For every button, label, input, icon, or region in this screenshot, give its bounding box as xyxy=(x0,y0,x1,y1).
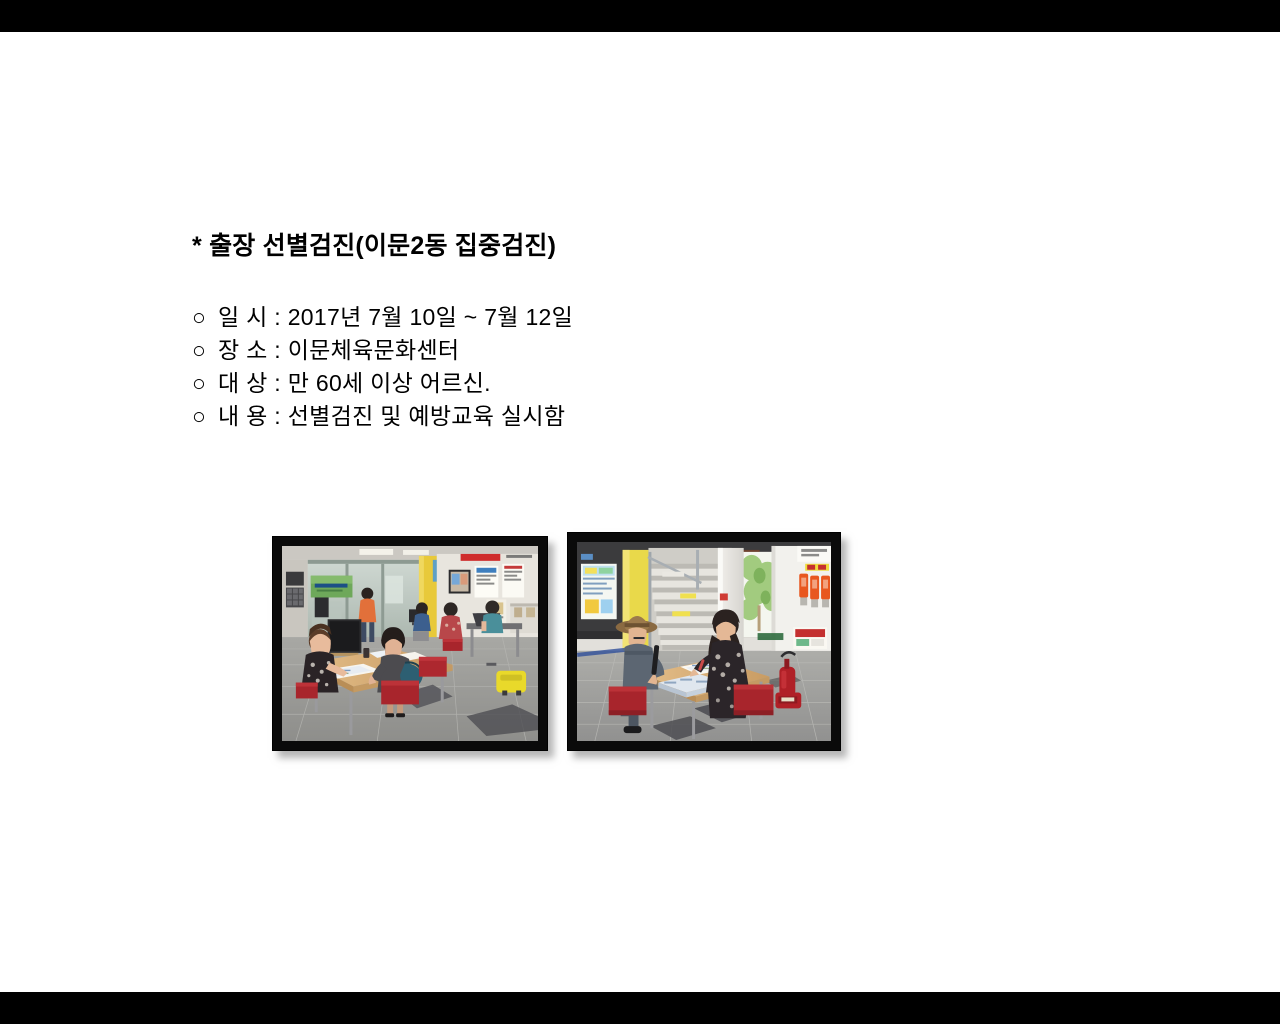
detail-value-place: 이문체육문화센터 xyxy=(288,337,460,363)
slide-text-block: * 출장 선별검진(이문2동 집중검진) ○일 시 : 2017년 7월 10일… xyxy=(192,231,972,433)
circle-bullet-icon: ○ xyxy=(192,334,218,367)
letterbox-top xyxy=(0,0,1280,32)
detail-label-place: 장 소 : xyxy=(218,334,281,367)
detail-value-target: 만 60세 이상 어르신. xyxy=(288,370,491,396)
slide-viewport: * 출장 선별검진(이문2동 집중검진) ○일 시 : 2017년 7월 10일… xyxy=(0,0,1280,1024)
photo-screening-interview-image: 계단 앞 책상에서 어르신 한 분과 상담 검진을 진행하는 모습 xyxy=(577,542,831,741)
photo-screening-lobby: 이문체육문화센터 로비에서 어르신 선별검진을 진행하는 모습 xyxy=(272,536,548,751)
detail-label-content: 내 용 : xyxy=(218,400,281,433)
circle-bullet-icon: ○ xyxy=(192,301,218,334)
detail-line-date: ○일 시 : 2017년 7월 10일 ~ 7월 12일 xyxy=(192,301,972,334)
detail-label-date: 일 시 : xyxy=(218,301,281,334)
detail-line-content: ○내 용 : 선별검진 및 예방교육 실시함 xyxy=(192,400,972,433)
detail-label-target: 대 상 : xyxy=(218,367,281,400)
slide-canvas: * 출장 선별검진(이문2동 집중검진) ○일 시 : 2017년 7월 10일… xyxy=(0,32,1280,992)
photo-screening-lobby-image: 이문체육문화센터 로비에서 어르신 선별검진을 진행하는 모습 xyxy=(282,546,538,741)
letterbox-bottom xyxy=(0,992,1280,1024)
detail-value-date: 2017년 7월 10일 ~ 7월 12일 xyxy=(288,304,573,330)
detail-line-place: ○장 소 : 이문체육문화센터 xyxy=(192,334,972,367)
detail-line-target: ○대 상 : 만 60세 이상 어르신. xyxy=(192,367,972,400)
photo-screening-interview: 계단 앞 책상에서 어르신 한 분과 상담 검진을 진행하는 모습 xyxy=(567,532,841,751)
detail-value-content: 선별검진 및 예방교육 실시함 xyxy=(288,403,566,429)
page-title: * 출장 선별검진(이문2동 집중검진) xyxy=(192,231,972,261)
circle-bullet-icon: ○ xyxy=(192,400,218,433)
circle-bullet-icon: ○ xyxy=(192,367,218,400)
